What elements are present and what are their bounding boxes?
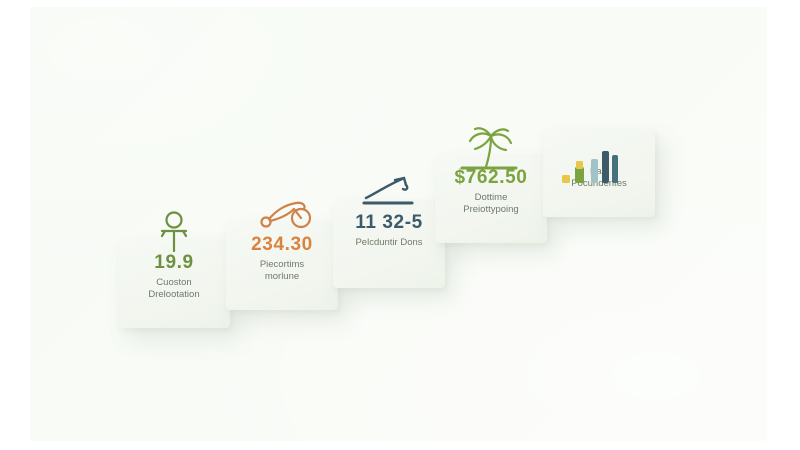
stat-label-line1: Dottime: [441, 192, 541, 204]
stat-label: Cuoston Drelootation: [124, 277, 224, 300]
stat-card[interactable]: 19.9 Cuoston Drelootation: [118, 240, 230, 328]
stat-value: 11 32-5: [339, 212, 439, 234]
stat-label: Piecortims morlune: [232, 259, 332, 282]
stat-label: Balli Pocundentes: [549, 166, 649, 189]
stat-card[interactable]: $762.50 Dottime Preiottypoing: [435, 155, 547, 243]
stat-label: Dottime Preiottypoing: [441, 192, 541, 215]
stat-label-line2: morlune: [232, 271, 332, 283]
stat-value: 19.9: [124, 252, 224, 274]
stat-label-line2: Preiottypoing: [441, 204, 541, 216]
stat-label-line2: Pocundentes: [549, 178, 649, 190]
stat-label-line1: Cuoston: [124, 277, 224, 289]
stat-value: $762.50: [441, 167, 541, 189]
stat-label-line1: Piecortims: [232, 259, 332, 271]
stat-card[interactable]: Balli Pocundentes: [543, 129, 655, 217]
stat-label-line1: Pelcduntir Dons: [339, 237, 439, 249]
stat-cards-canvas: 19.9 Cuoston Drelootation 234.30 Piecort…: [30, 7, 767, 441]
stat-value: 234.30: [232, 234, 332, 256]
stat-card[interactable]: 11 32-5 Pelcduntir Dons: [333, 200, 445, 288]
stat-label-line2: Drelootation: [124, 289, 224, 301]
stat-label: Pelcduntir Dons: [339, 237, 439, 249]
stat-card[interactable]: 234.30 Piecortims morlune: [226, 222, 338, 310]
stat-label-line1: Balli: [549, 166, 649, 178]
